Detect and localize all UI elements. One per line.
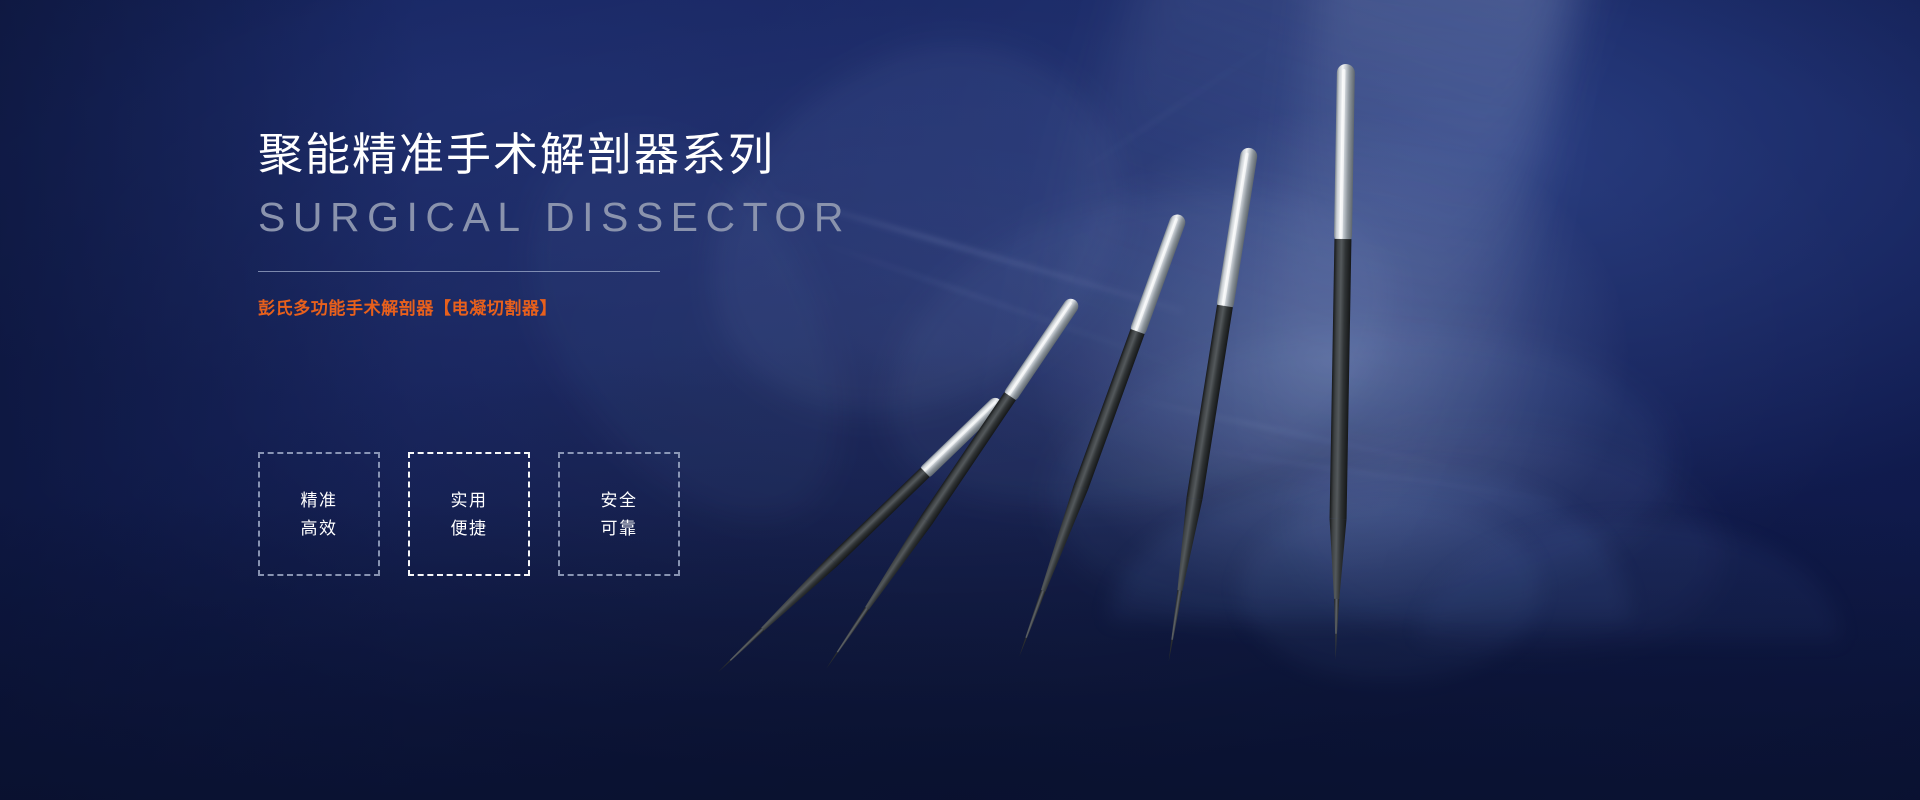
page-title: 聚能精准手术解剖器系列 bbox=[258, 132, 958, 177]
title-divider bbox=[258, 271, 660, 272]
product-name-highlight: 彭氏多功能手术解剖器【电凝切割器】 bbox=[258, 300, 958, 317]
hero-banner: 聚能精准手术解剖器系列 SURGICAL DISSECTOR 彭氏多功能手术解剖… bbox=[0, 0, 1920, 800]
feature-badge-line2: 可靠 bbox=[601, 520, 638, 537]
feature-badge-practical[interactable]: 实用 便捷 bbox=[408, 452, 530, 576]
feature-badge-line1: 安全 bbox=[601, 492, 638, 509]
feature-badge-list: 精准 高效 实用 便捷 安全 可靠 bbox=[258, 452, 680, 576]
feature-badge-safety[interactable]: 安全 可靠 bbox=[558, 452, 680, 576]
feature-badge-precision[interactable]: 精准 高效 bbox=[258, 452, 380, 576]
page-subtitle-english: SURGICAL DISSECTOR bbox=[258, 197, 958, 238]
feature-badge-line2: 便捷 bbox=[451, 520, 488, 537]
feature-badge-line1: 实用 bbox=[451, 492, 488, 509]
feature-badge-line1: 精准 bbox=[301, 492, 338, 509]
feature-badge-line2: 高效 bbox=[301, 520, 338, 537]
banner-text-block: 聚能精准手术解剖器系列 SURGICAL DISSECTOR 彭氏多功能手术解剖… bbox=[258, 132, 958, 317]
